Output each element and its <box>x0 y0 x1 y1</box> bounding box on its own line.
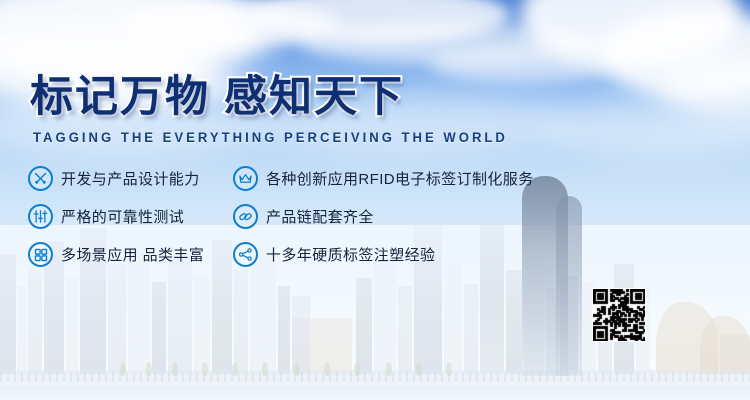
page-title: 标记万物 感知天下 <box>30 76 404 119</box>
page-subtitle: TAGGING THE EVERYTHING PERCEIVING THE WO… <box>33 130 508 145</box>
feature-item-multi-scenario: 多场景应用 品类丰富 <box>28 242 204 267</box>
feature-label: 产品链配套齐全 <box>266 206 374 227</box>
grid-icon <box>28 242 53 267</box>
link-icon <box>233 204 258 229</box>
tools-icon <box>28 166 53 191</box>
feature-label: 开发与产品设计能力 <box>61 168 200 189</box>
feature-list: 开发与产品设计能力 各种创新应用RFID电子标签订制化服务 <box>0 166 750 280</box>
feature-row: 严格的可靠性测试 产品链配套齐全 <box>0 204 750 242</box>
feature-item-supply-chain: 产品链配套齐全 <box>233 204 374 229</box>
feature-label: 多场景应用 品类丰富 <box>61 244 204 265</box>
feature-label: 十多年硬质标签注塑经验 <box>266 244 435 265</box>
promo-banner: 标记万物 感知天下 TAGGING THE EVERYTHING PERCEIV… <box>0 0 750 400</box>
feature-label: 各种创新应用RFID电子标签订制化服务 <box>266 168 534 189</box>
feature-row: 开发与产品设计能力 各种创新应用RFID电子标签订制化服务 <box>0 166 750 204</box>
share-icon <box>233 242 258 267</box>
feature-item-rfid-customization: 各种创新应用RFID电子标签订制化服务 <box>233 166 534 191</box>
feature-item-molding-experience: 十多年硬质标签注塑经验 <box>233 242 435 267</box>
qr-code[interactable] <box>592 288 646 342</box>
feature-item-development: 开发与产品设计能力 <box>28 166 200 191</box>
feature-item-reliability-testing: 严格的可靠性测试 <box>28 204 184 229</box>
feature-row: 多场景应用 品类丰富 十多年硬质标签注塑经验 <box>0 242 750 280</box>
qr-code-canvas <box>593 289 645 341</box>
feature-label: 严格的可靠性测试 <box>61 206 184 227</box>
sliders-icon <box>28 204 53 229</box>
crown-icon <box>233 166 258 191</box>
